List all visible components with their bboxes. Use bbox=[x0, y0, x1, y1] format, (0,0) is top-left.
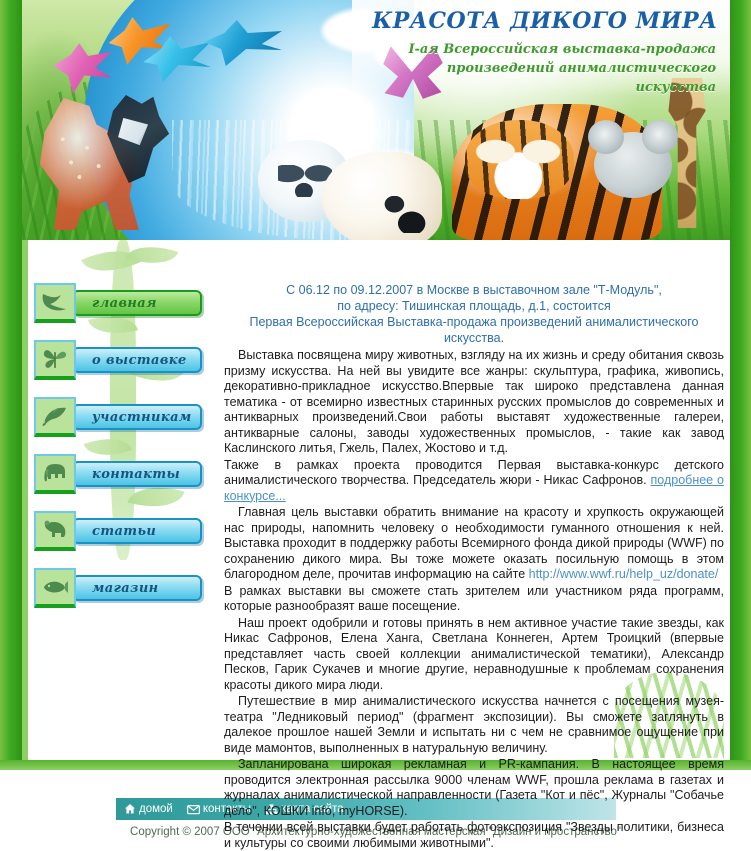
article-paragraph-5: Наш проект одобрили и готовы принять в н… bbox=[224, 616, 724, 694]
sidebar-menu: главная о выставке bbox=[34, 282, 202, 624]
footer-link-home-label: домой bbox=[139, 803, 173, 815]
fish-icon bbox=[34, 568, 76, 608]
article-paragraph-6: Путешествие в мир анималистического иску… bbox=[224, 694, 724, 756]
lead-line-3: Первая Всероссийская Выставка-продажа пр… bbox=[224, 314, 724, 346]
wwf-donate-link[interactable]: http://www.wwf.ru/help_uz/donate/ bbox=[529, 567, 719, 581]
home-icon bbox=[124, 803, 136, 815]
sidebar-item-participants[interactable]: участникам bbox=[34, 396, 202, 438]
article-paragraph-3: Главная цель выставки обратить внимание … bbox=[224, 505, 724, 583]
bird-icon bbox=[34, 283, 76, 323]
sidebar-item-articles-label: статьи bbox=[72, 518, 202, 544]
cloud-icon bbox=[314, 96, 374, 126]
footer-link-home[interactable]: домой bbox=[124, 803, 173, 815]
article-paragraph-4: В рамках выставки вы сможете стать зрите… bbox=[224, 584, 724, 615]
sidebar-item-home-label: главная bbox=[72, 290, 202, 316]
site-subtitle-line1: I-ая Всероссийская выставка-продажа bbox=[370, 40, 716, 59]
site-title: КРАСОТА ДИКОГО МИРА bbox=[370, 8, 720, 34]
sidebar-item-shop[interactable]: магазин bbox=[34, 567, 202, 609]
site-subtitle: I-ая Всероссийская выставка-продажа прои… bbox=[370, 40, 720, 97]
polar-bear-image bbox=[322, 152, 442, 240]
article-lead: С 06.12 по 09.12.2007 в Москве в выставо… bbox=[224, 282, 724, 346]
sidebar-item-participants-label: участникам bbox=[72, 404, 202, 430]
article-paragraph-7: Запланирована широкая рекламная и PR-кам… bbox=[224, 757, 724, 819]
site-title-block: КРАСОТА ДИКОГО МИРА I-ая Всероссийская в… bbox=[370, 8, 720, 97]
article-paragraph-2: Также в рамках проекта проводится Первая… bbox=[224, 458, 724, 505]
koala-image bbox=[594, 132, 672, 198]
sidebar-item-shop-label: магазин bbox=[72, 575, 202, 601]
dolphin-icon bbox=[34, 397, 76, 437]
leaf-icon bbox=[126, 237, 178, 273]
main-article: С 06.12 по 09.12.2007 в Москве в выставо… bbox=[224, 282, 724, 851]
frame-right-border bbox=[730, 0, 751, 770]
bear-icon bbox=[34, 511, 76, 551]
lead-line-2: по адресу: Тишинская площадь, д.1, состо… bbox=[224, 298, 724, 314]
article-paragraph-2-text: Также в рамках проекта проводится Первая… bbox=[224, 458, 724, 488]
frame-left-border bbox=[0, 0, 22, 770]
sidebar-item-home[interactable]: главная bbox=[34, 282, 202, 324]
page-root: КРАСОТА ДИКОГО МИРА I-ая Всероссийская в… bbox=[0, 0, 751, 851]
sidebar-item-about-label: о выставке bbox=[72, 347, 202, 373]
article-paragraph-1: Выставка посвящена миру животных, взгляд… bbox=[224, 348, 724, 457]
sidebar-item-contacts-label: контакты bbox=[72, 461, 202, 487]
butterfly-icon bbox=[34, 340, 76, 380]
sidebar-item-about[interactable]: о выставке bbox=[34, 339, 202, 381]
sidebar-item-articles[interactable]: статьи bbox=[34, 510, 202, 552]
mail-icon bbox=[187, 804, 200, 815]
site-subtitle-line2: произведений анималистического искусства bbox=[370, 59, 716, 97]
sidebar-item-contacts[interactable]: контакты bbox=[34, 453, 202, 495]
elephant-icon bbox=[34, 454, 76, 494]
article-paragraph-8: В течении всей выставки будет работать ф… bbox=[224, 820, 724, 851]
content-area: главная о выставке bbox=[22, 240, 730, 760]
lead-line-1: С 06.12 по 09.12.2007 в Москве в выставо… bbox=[224, 282, 724, 298]
